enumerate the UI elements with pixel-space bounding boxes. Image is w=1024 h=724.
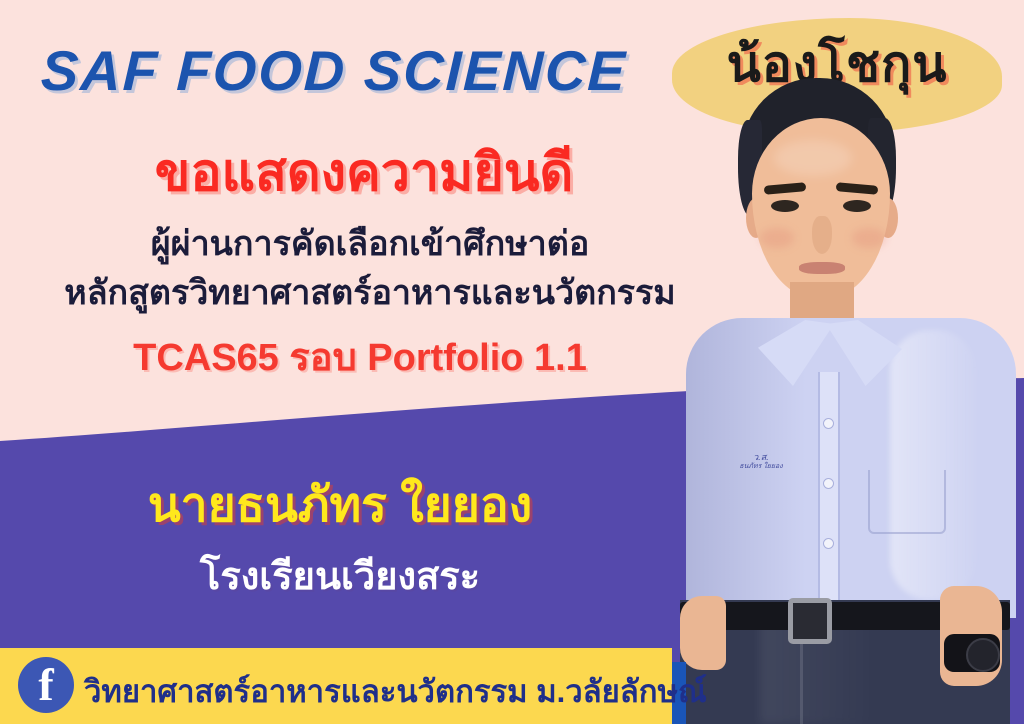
subheading-line-2: หลักสูตรวิทยาศาสตร์อาหารและนวัตกรรม — [0, 265, 740, 319]
footer-page-name: วิทยาศาสตร์อาหารและนวัตกรรม ม.วลัยลักษณ์ — [84, 666, 664, 716]
belt-buckle — [788, 598, 832, 644]
subheading-line-1: ผู้ผ่านการคัดเลือกเข้าศึกษาต่อ — [0, 216, 740, 270]
shirt-logo-line-2: ธนภัทร ใยยอง — [738, 462, 784, 472]
facebook-icon-glyph: f — [18, 656, 74, 714]
student-school: โรงเรียนเวียงสระ — [20, 545, 660, 606]
shirt-button — [823, 478, 834, 489]
shirt-pocket — [868, 470, 946, 534]
congratulations-heading: ขอแสดงความยินดี — [14, 130, 714, 213]
brand-title: SAF FOOD SCIENCE — [13, 38, 655, 103]
student-name: นายธนภัทร ใยยอง — [20, 467, 660, 543]
eye-right — [843, 200, 871, 212]
shirt-logo: ว.ส. ธนภัทร ใยยอง — [738, 452, 784, 482]
shirt-button — [823, 538, 834, 549]
cheek-right — [852, 228, 886, 248]
shirt-placket — [818, 372, 840, 620]
forehead-highlight — [774, 140, 852, 176]
mouth — [799, 262, 845, 274]
eye-left — [771, 200, 799, 212]
cheek-left — [760, 228, 794, 248]
arm-left — [680, 596, 726, 670]
admission-round-label: TCAS65 รอบ Portfolio 1.1 — [10, 326, 710, 387]
shirt-highlight — [890, 330, 976, 600]
wristwatch-face — [966, 638, 1000, 672]
facebook-icon[interactable]: f — [18, 657, 74, 713]
congratulations-poster: น้องโชกุน ว.ส. ธนภัทร ใยยอง — [0, 0, 1024, 724]
shirt-logo-line-1: ว.ส. — [738, 452, 784, 462]
nose — [812, 216, 832, 254]
shirt-button — [823, 418, 834, 429]
